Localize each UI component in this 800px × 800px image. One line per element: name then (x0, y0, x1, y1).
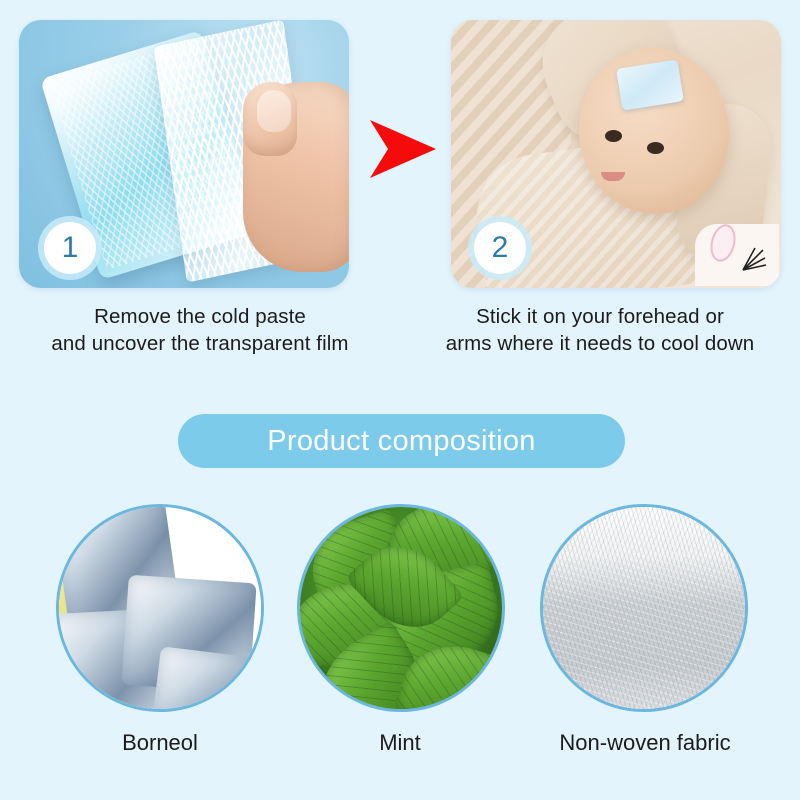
product-composition-title: Product composition (267, 425, 535, 458)
mint-image-circle (297, 504, 505, 712)
step-badge-1: 1 (44, 222, 96, 274)
step-1-caption-line-1: Remove the cold paste (0, 303, 400, 330)
step-1-caption-line-2: and uncover the transparent film (0, 330, 400, 357)
non-woven-fabric-photo (543, 507, 745, 709)
red-right-arrow-icon (366, 118, 438, 185)
non-woven-fabric-label: Non-woven fabric (545, 730, 745, 756)
step-1-caption: Remove the cold paste and uncover the tr… (0, 303, 400, 357)
non-woven-fabric-image-circle (540, 504, 748, 712)
product-infographic: 1 (0, 0, 800, 800)
borneol-image-circle (56, 504, 264, 712)
bunny-blanket (695, 224, 779, 286)
ice-cubes-photo (59, 507, 261, 709)
thumbnail-icon (257, 90, 291, 132)
mint-label: Mint (300, 730, 500, 756)
baby-eye-right (647, 142, 664, 154)
borneol-label: Borneol (60, 730, 260, 756)
step-badge-2: 2 (474, 222, 526, 274)
product-composition-banner: Product composition (178, 414, 625, 468)
step-2-caption: Stick it on your forehead or arms where … (400, 303, 800, 357)
mint-leaves-photo (300, 507, 502, 709)
step-2-caption-line-2: arms where it needs to cool down (400, 330, 800, 357)
baby-eye-left (605, 130, 622, 142)
step-2-caption-line-1: Stick it on your forehead or (400, 303, 800, 330)
